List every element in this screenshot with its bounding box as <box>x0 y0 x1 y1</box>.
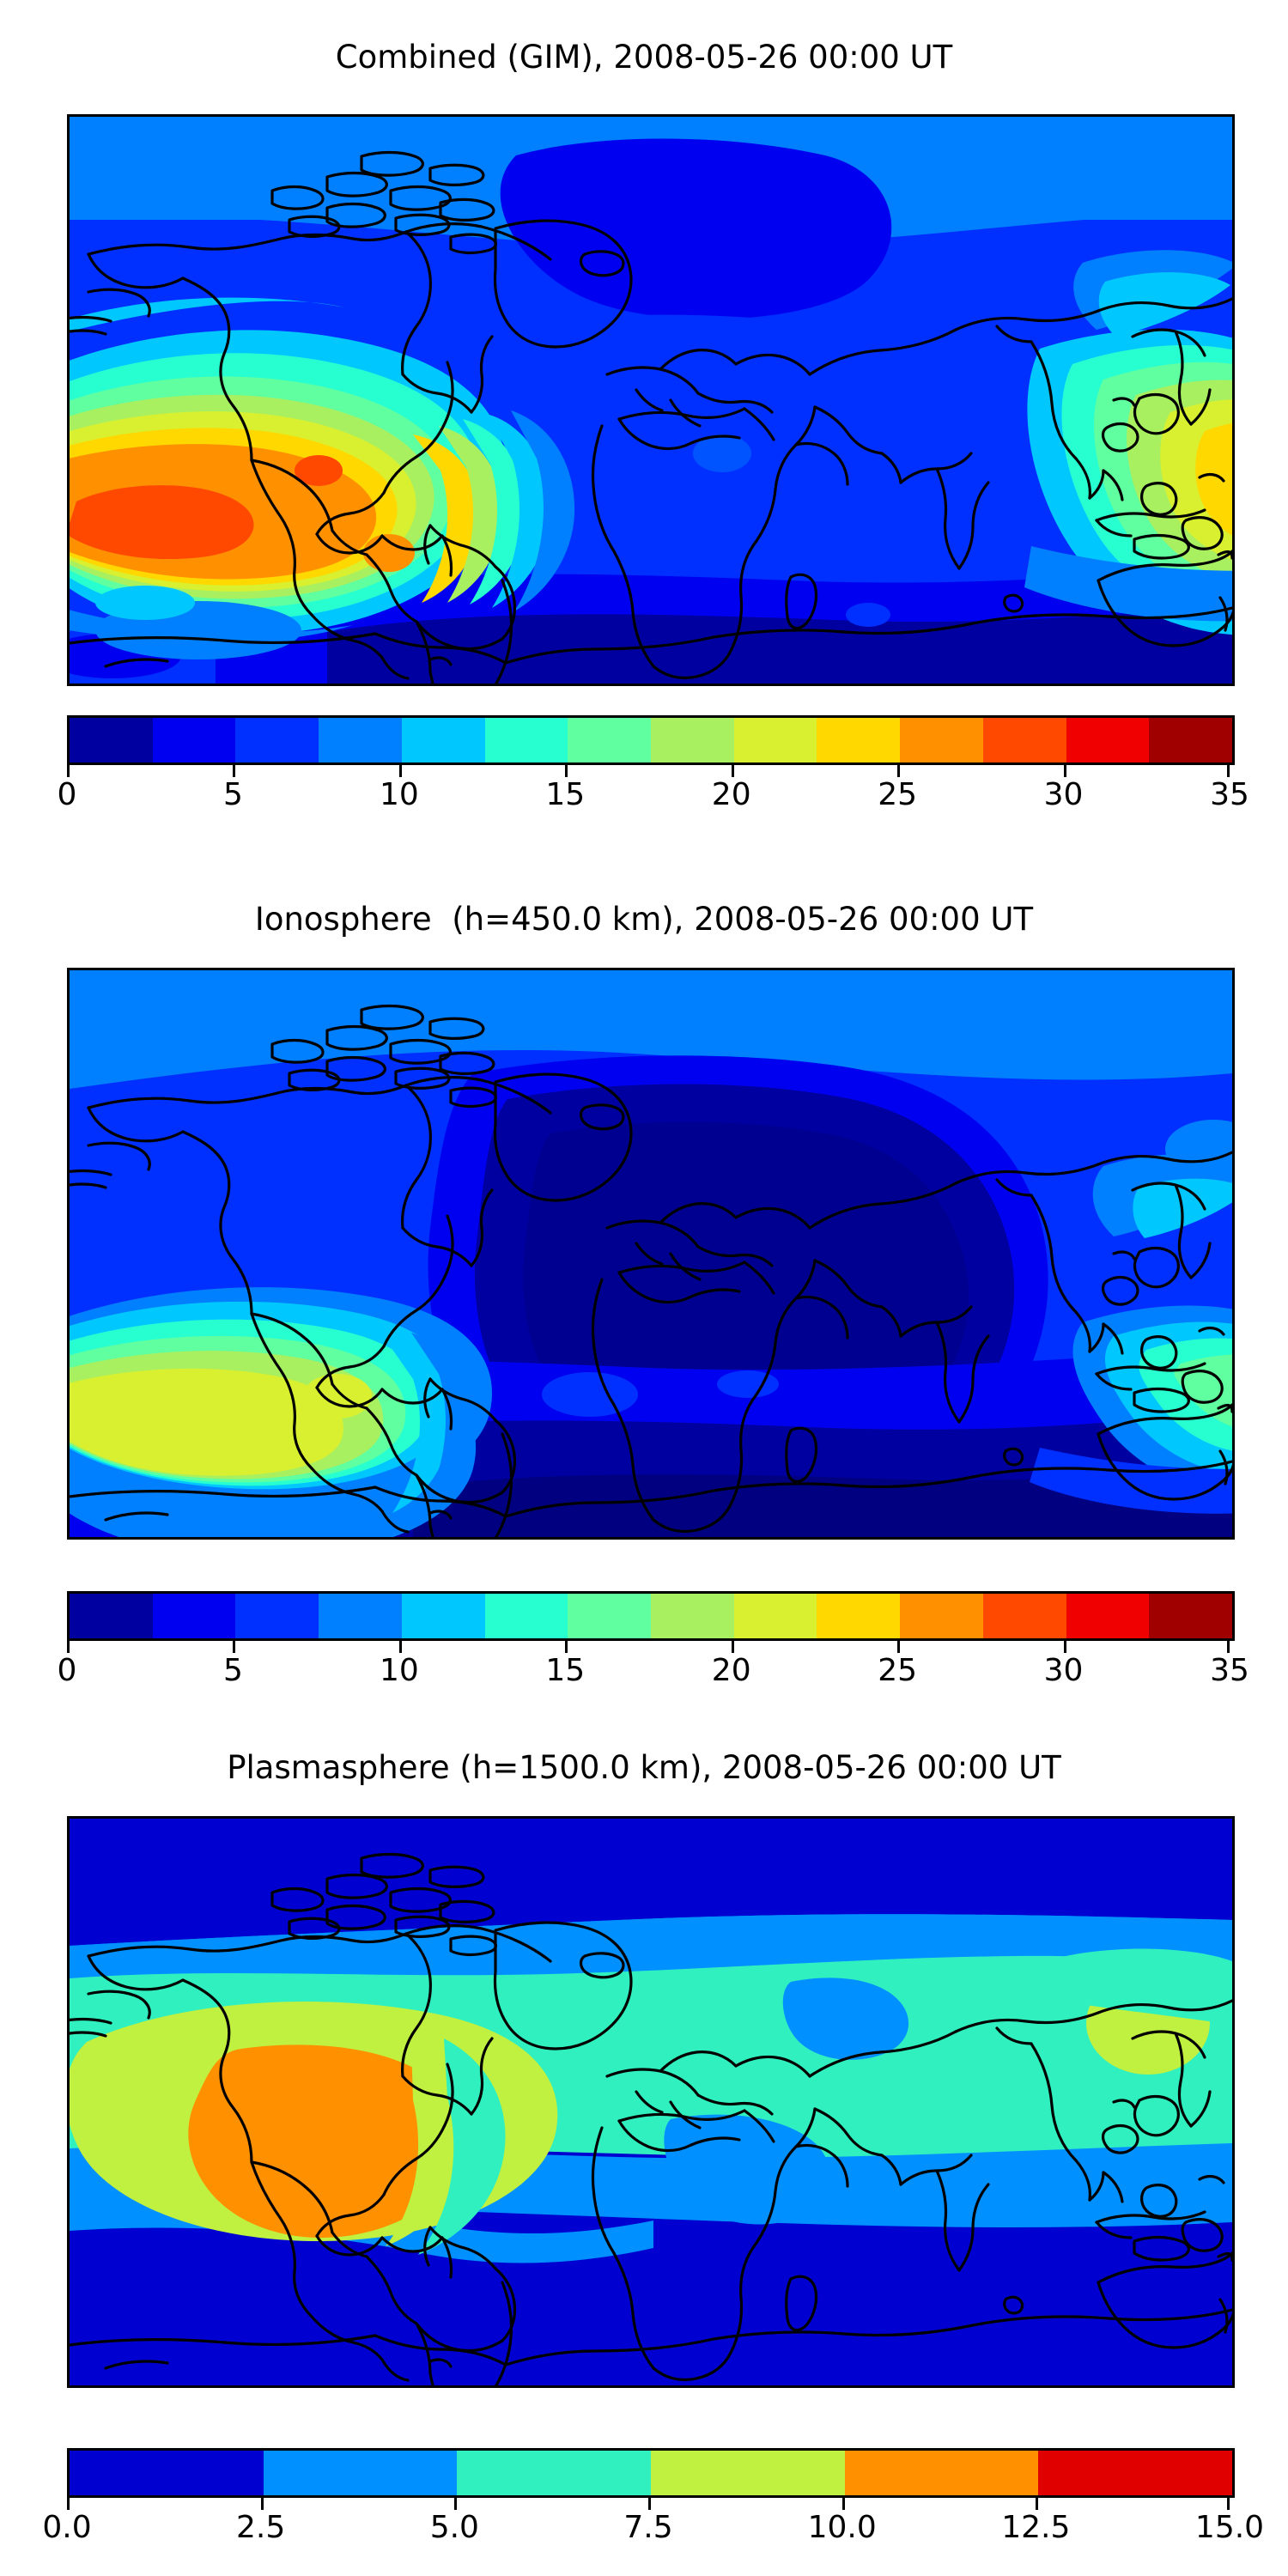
colorbar-tick-0 <box>67 765 70 777</box>
colorbar-band-8 <box>734 1594 817 1638</box>
colorbar-tick-label-4: 20 <box>712 1653 751 1688</box>
panel-title-combined-gim: Combined (GIM), 2008-05-26 00:00 UT <box>0 41 1288 73</box>
colorbar-band-5 <box>485 1594 568 1638</box>
colorbar-band-13 <box>1149 718 1232 762</box>
colorbar-band-0 <box>70 2451 264 2495</box>
colorbar-gradient-combined-gim <box>67 715 1235 765</box>
colorbar-band-3 <box>651 2451 845 2495</box>
colorbar-tick-label-5: 25 <box>878 1653 917 1688</box>
colorbar-tick-label-1: 5 <box>223 777 243 812</box>
colorbar-tick-2 <box>399 765 402 777</box>
colorbar-tick-4 <box>732 1641 734 1653</box>
colorbar-gradient-plasmasphere <box>67 2448 1235 2498</box>
colorbar-band-9 <box>817 1594 900 1638</box>
colorbar-tick-1 <box>261 2498 264 2510</box>
colorbar-tick-1 <box>233 1641 235 1653</box>
colorbar-gradient-ionosphere <box>67 1591 1235 1641</box>
colorbar-tick-0 <box>67 2498 70 2510</box>
colorbar-tick-label-1: 2.5 <box>236 2510 285 2545</box>
colorbar-band-11 <box>983 1594 1066 1638</box>
colorbar-band-2 <box>235 718 319 762</box>
colorbar-band-7 <box>651 718 734 762</box>
panel-ionosphere: Ionosphere (h=450.0 km), 2008-05-26 00:0… <box>0 859 1288 1735</box>
colorbar-band-4 <box>402 718 485 762</box>
colorbar-tick-label-3: 7.5 <box>623 2510 672 2545</box>
colorbar-tick-5 <box>1036 2498 1038 2510</box>
colorbar-tick-4 <box>732 765 734 777</box>
colorbar-ticks-combined-gim <box>64 765 1232 777</box>
colorbar-tick-label-5: 25 <box>878 777 917 812</box>
colorbar-band-0 <box>70 1594 153 1638</box>
colorbar-band-9 <box>817 718 900 762</box>
colorbar-ticks-plasmasphere <box>64 2498 1232 2510</box>
colorbar-tick-label-2: 5.0 <box>430 2510 479 2545</box>
colorbar-tick-label-0: 0.0 <box>42 2510 91 2545</box>
map-svg-ionosphere <box>70 970 1232 1537</box>
colorbar-tick-label-1: 5 <box>223 1653 243 1688</box>
colorbar-tick-label-6: 30 <box>1044 1653 1084 1688</box>
colorbar-band-13 <box>1149 1594 1232 1638</box>
colorbar-tick-1 <box>233 765 235 777</box>
colorbar-band-10 <box>900 718 983 762</box>
colorbar-band-11 <box>983 718 1066 762</box>
colorbar-band-10 <box>900 1594 983 1638</box>
map-plasmasphere <box>67 1816 1235 2388</box>
colorbar-band-6 <box>568 1594 651 1638</box>
colorbar-band-4 <box>402 1594 485 1638</box>
colorbar-tick-5 <box>897 765 900 777</box>
colorbar-band-1 <box>153 718 236 762</box>
colorbar-tick-6 <box>1064 765 1066 777</box>
map-svg-combined-gim <box>70 117 1232 683</box>
colorbar-band-3 <box>319 1594 402 1638</box>
colorbar-tick-label-4: 20 <box>712 777 751 812</box>
colorbar-band-5 <box>485 718 568 762</box>
colorbar-band-5 <box>1038 2451 1232 2495</box>
colorbar-tick-3 <box>565 1641 568 1653</box>
colorbar-tick-label-0: 0 <box>58 777 77 812</box>
colorbar-tick-7 <box>1227 1641 1230 1653</box>
colorbar-band-12 <box>1066 1594 1150 1638</box>
colorbar-tick-2 <box>454 2498 457 2510</box>
colorbar-tick-label-6: 15.0 <box>1195 2510 1264 2545</box>
colorbar-tick-3 <box>565 765 568 777</box>
colorbar-band-1 <box>153 1594 236 1638</box>
colorbar-tick-label-2: 10 <box>380 1653 419 1688</box>
colorbar-ticks-ionosphere <box>64 1641 1232 1653</box>
colorbar-tick-label-4: 10.0 <box>808 2510 877 2545</box>
panel-combined-gim: Combined (GIM), 2008-05-26 00:00 UT <box>0 0 1288 859</box>
colorbar-combined-gim: 05101520253035 <box>67 715 1230 817</box>
panel-plasmasphere: Plasmasphere (h=1500.0 km), 2008-05-26 0… <box>0 1735 1288 2576</box>
figure-canvas: Combined (GIM), 2008-05-26 00:00 UT <box>0 0 1288 2576</box>
panel-title-plasmasphere: Plasmasphere (h=1500.0 km), 2008-05-26 0… <box>0 1752 1288 1783</box>
panel-title-ionosphere: Ionosphere (h=450.0 km), 2008-05-26 00:0… <box>0 903 1288 935</box>
colorbar-tick-2 <box>399 1641 402 1653</box>
colorbar-band-1 <box>264 2451 458 2495</box>
colorbar-tick-label-3: 15 <box>545 777 585 812</box>
colorbar-tick-label-2: 10 <box>380 777 419 812</box>
colorbar-band-2 <box>457 2451 651 2495</box>
colorbar-tick-label-0: 0 <box>58 1653 77 1688</box>
colorbar-labels-plasmasphere: 0.02.55.07.510.012.515.0 <box>64 2510 1232 2549</box>
map-ionosphere <box>67 968 1235 1540</box>
colorbar-tick-5 <box>897 1641 900 1653</box>
colorbar-band-2 <box>235 1594 319 1638</box>
colorbar-tick-label-5: 12.5 <box>1001 2510 1070 2545</box>
colorbar-band-0 <box>70 718 153 762</box>
colorbar-band-3 <box>319 718 402 762</box>
colorbar-band-6 <box>568 718 651 762</box>
colorbar-tick-4 <box>842 2498 845 2510</box>
colorbar-band-12 <box>1066 718 1150 762</box>
colorbar-labels-combined-gim: 05101520253035 <box>64 777 1232 817</box>
colorbar-tick-3 <box>648 2498 651 2510</box>
colorbar-tick-0 <box>67 1641 70 1653</box>
colorbar-tick-label-7: 35 <box>1210 1653 1249 1688</box>
colorbar-tick-6 <box>1064 1641 1066 1653</box>
colorbar-tick-label-3: 15 <box>545 1653 585 1688</box>
colorbar-labels-ionosphere: 05101520253035 <box>64 1653 1232 1692</box>
colorbar-band-8 <box>734 718 817 762</box>
colorbar-tick-7 <box>1227 765 1230 777</box>
map-svg-plasmasphere <box>70 1819 1232 2385</box>
colorbar-tick-label-7: 35 <box>1210 777 1249 812</box>
map-combined-gim <box>67 114 1235 686</box>
colorbar-tick-label-6: 30 <box>1044 777 1084 812</box>
colorbar-ionosphere: 05101520253035 <box>67 1591 1230 1692</box>
colorbar-tick-6 <box>1227 2498 1230 2510</box>
colorbar-plasmasphere: 0.02.55.07.510.012.515.0 <box>67 2448 1230 2549</box>
colorbar-band-4 <box>845 2451 1039 2495</box>
colorbar-band-7 <box>651 1594 734 1638</box>
